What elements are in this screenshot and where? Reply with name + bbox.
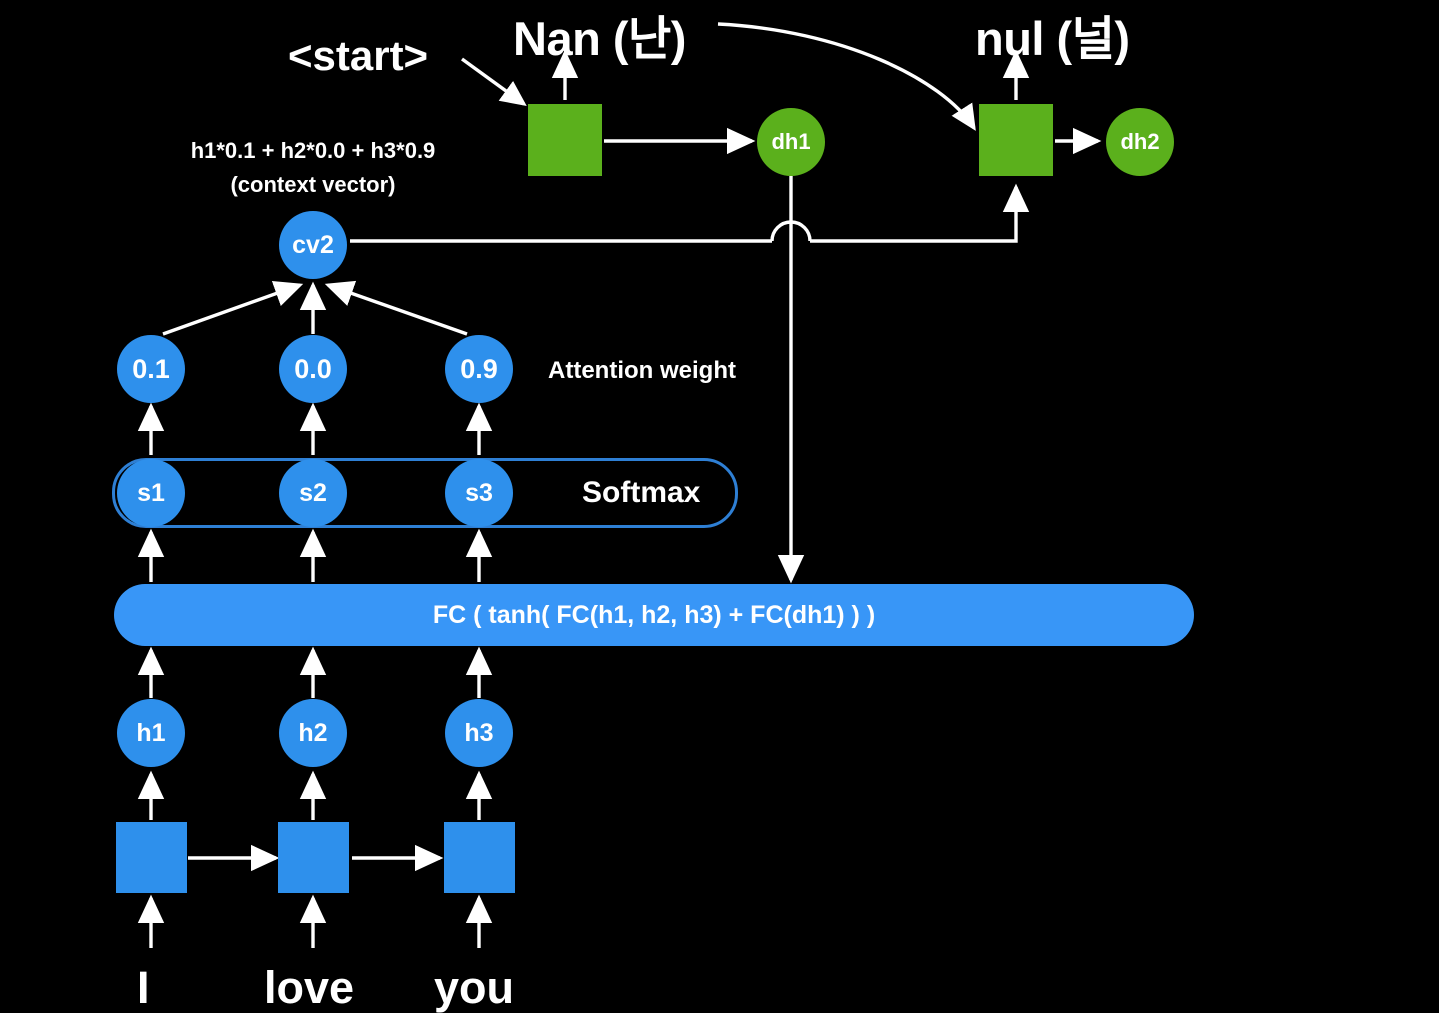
score-node-s2: s2 <box>279 459 347 527</box>
encoder-cell-2 <box>278 822 349 893</box>
context-vector-caption: (context vector) <box>168 172 458 198</box>
decoder-cell-1 <box>528 104 602 176</box>
score-function-bar: FC ( tanh( FC(h1, h2, h3) + FC(dh1) ) ) <box>114 584 1194 646</box>
arrow-cv2-to-decoder-cell2 <box>810 187 1016 241</box>
encoder-hidden-node-h3: h3 <box>445 699 513 767</box>
decoder-hidden-node-dh2: dh2 <box>1106 108 1174 176</box>
arrow-output1-to-decoder-cell2 <box>718 24 974 128</box>
encoder-cell-3 <box>444 822 515 893</box>
input-word-2: love <box>264 962 354 1013</box>
attention-weight-node-1: 0.1 <box>117 335 185 403</box>
attention-weight-legend: Attention weight <box>548 357 736 385</box>
score-node-s1: s1 <box>117 459 185 527</box>
decoder-cell-2 <box>979 104 1053 176</box>
start-token-label: <start> <box>288 32 428 80</box>
context-vector-node: cv2 <box>279 211 347 279</box>
arrow-w3-to-cv2 <box>328 285 467 334</box>
attention-weight-node-3: 0.9 <box>445 335 513 403</box>
arrow-w1-to-cv2 <box>163 285 300 334</box>
attention-seq2seq-diagram: <start> Nan (난) nul (널) h1*0.1 + h2*0.0 … <box>0 0 1439 1013</box>
softmax-label: Softmax <box>582 476 700 510</box>
encoder-cell-1 <box>116 822 187 893</box>
decoder-output-2-label: nul (널) <box>975 0 1130 69</box>
score-node-s3: s3 <box>445 459 513 527</box>
line-hop-over-dh1 <box>772 222 810 241</box>
context-vector-formula: h1*0.1 + h2*0.0 + h3*0.9 <box>168 138 458 164</box>
attention-weight-node-2: 0.0 <box>279 335 347 403</box>
input-word-3: you <box>434 962 514 1013</box>
decoder-output-1-label: Nan (난) <box>513 0 686 69</box>
encoder-hidden-node-h2: h2 <box>279 699 347 767</box>
encoder-hidden-node-h1: h1 <box>117 699 185 767</box>
decoder-hidden-node-dh1: dh1 <box>757 108 825 176</box>
input-word-1: I <box>137 962 150 1013</box>
